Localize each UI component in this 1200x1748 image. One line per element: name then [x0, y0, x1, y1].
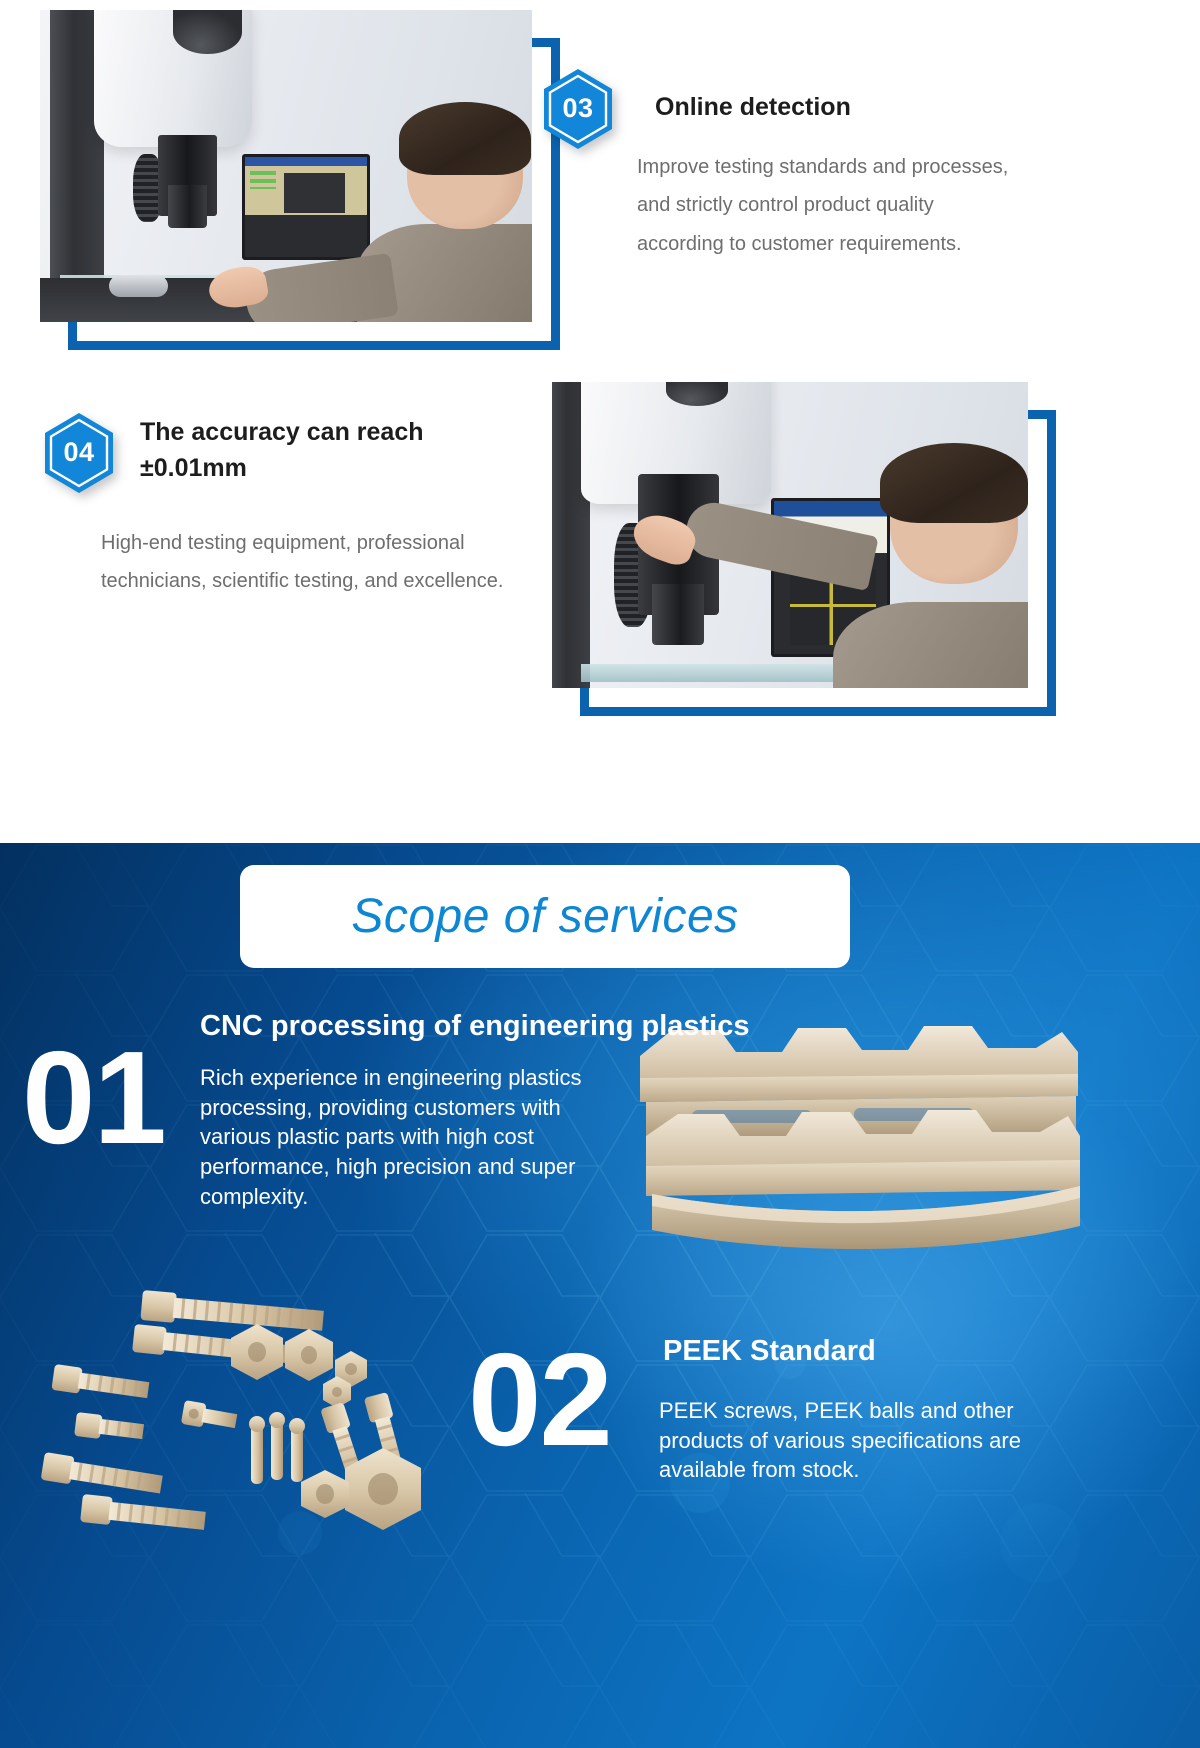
- feature-badge-04: 04: [42, 411, 116, 495]
- service-number-01: 01: [22, 1032, 165, 1164]
- feature-body-04: High-end testing equipment, professional…: [101, 524, 526, 601]
- feature-title-04: The accuracy can reach ±0.01mm: [140, 414, 500, 487]
- peek-screws-image: [35, 1272, 465, 1542]
- feature-badge-03: 03: [541, 67, 615, 151]
- service-title-02: PEEK Standard: [663, 1335, 1123, 1368]
- service-body-01: Rich experience in engineering plastics …: [200, 1063, 630, 1211]
- feature-photo-03: [40, 10, 532, 322]
- feature-badge-number: 04: [42, 411, 116, 495]
- feature-title-03: Online detection: [655, 89, 1085, 125]
- peek-part-image: [632, 1018, 1084, 1253]
- feature-photo-04: [552, 382, 1028, 688]
- feature-photo-card-03: [40, 10, 532, 322]
- service-number-02: 02: [468, 1334, 611, 1466]
- feature-badge-number: 03: [541, 67, 615, 151]
- feature-body-03: Improve testing standards and processes,…: [637, 148, 1017, 263]
- service-title-01: CNC processing of engineering plastics: [200, 1010, 980, 1043]
- features-section: 03 Online detection Improve testing stan…: [0, 0, 1200, 843]
- feature-photo-card-04: [552, 382, 1028, 688]
- service-body-02: PEEK screws, PEEK balls and other produc…: [659, 1396, 1059, 1485]
- scope-title: Scope of services: [351, 889, 738, 944]
- scope-title-card: Scope of services: [240, 865, 850, 968]
